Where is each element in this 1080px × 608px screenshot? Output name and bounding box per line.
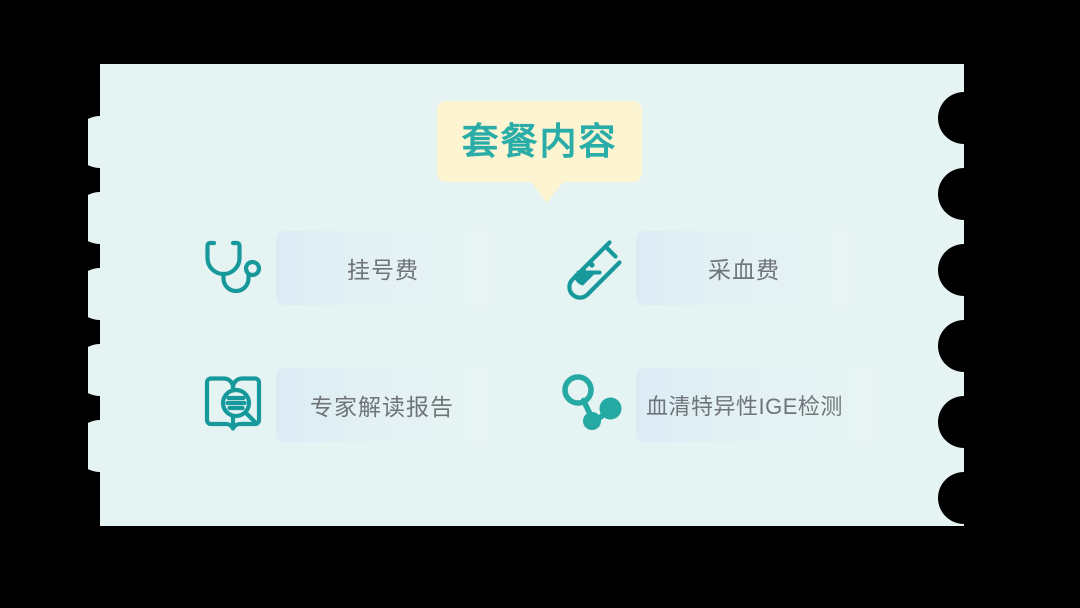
molecule-icon — [550, 359, 636, 451]
test-tube-icon — [550, 222, 636, 314]
feature-label: 挂号费 — [347, 251, 419, 285]
feature-item[interactable]: 血清特异性IGE检测 — [550, 359, 876, 451]
screenshot-root: 套餐内容 挂号费 — [0, 0, 1080, 608]
feature-label-pill: 血清特异性IGE检测 — [636, 368, 876, 442]
feature-grid: 挂号费 采血费 — [190, 222, 890, 482]
feature-item[interactable]: 专家解读报告 — [190, 359, 488, 451]
banner-tail — [530, 181, 564, 203]
feature-label-pill: 挂号费 — [276, 231, 490, 305]
feature-label: 采血费 — [708, 251, 780, 285]
feature-label: 血清特异性IGE检测 — [646, 389, 843, 421]
feature-label-pill: 专家解读报告 — [276, 368, 488, 442]
page-title: 套餐内容 — [462, 123, 618, 160]
stethoscope-icon — [190, 222, 276, 314]
book-magnifier-icon — [190, 359, 276, 451]
feature-label: 专家解读报告 — [310, 388, 454, 422]
feature-item[interactable]: 采血费 — [550, 222, 852, 314]
feature-label-pill: 采血费 — [636, 231, 852, 305]
package-title-banner: 套餐内容 — [437, 101, 642, 182]
feature-item[interactable]: 挂号费 — [190, 222, 490, 314]
